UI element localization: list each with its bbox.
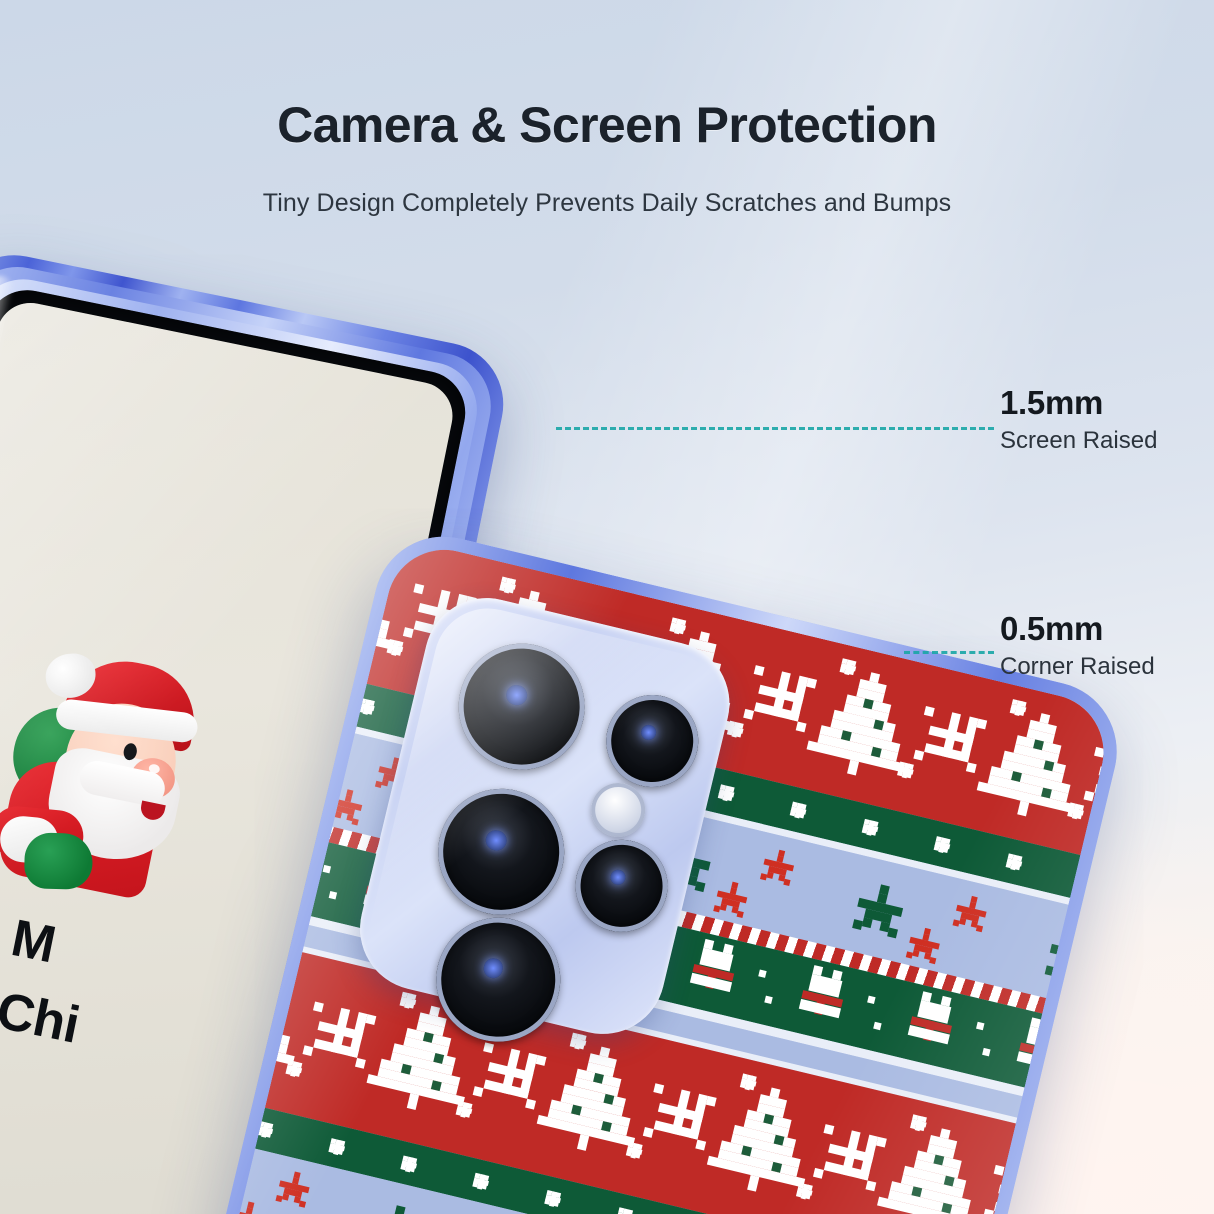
santa-cuff [0, 814, 60, 865]
santa-nose-highlight [148, 763, 161, 774]
leader-line-corner-raised [904, 651, 994, 654]
santa-eye [122, 742, 138, 761]
callout-caption: Screen Raised [1000, 426, 1157, 456]
santa-arm [0, 804, 86, 865]
leader-line-screen-raised [556, 427, 994, 430]
santa-moustache [77, 758, 168, 808]
santa-beard [39, 743, 185, 870]
greeting-line-1: M [5, 902, 274, 1026]
page-subtitle: Tiny Design Completely Prevents Daily Sc… [0, 189, 1214, 218]
santa-sack [5, 699, 118, 812]
callout-corner-raised: 0.5mm Corner Raised [1000, 612, 1155, 682]
santa-hat-pompom [43, 651, 98, 700]
santa-mouth [139, 801, 166, 822]
callout-caption: Corner Raised [1000, 652, 1155, 682]
callout-value: 0.5mm [1000, 612, 1155, 647]
santa-illustration [0, 628, 260, 934]
santa-hat [59, 650, 204, 753]
santa-mitten [24, 832, 93, 890]
led-flash-icon [586, 777, 651, 842]
camera-lens-1 [446, 631, 598, 783]
camera-lens-2 [597, 686, 708, 797]
camera-lens-3 [425, 776, 577, 928]
greeting-line-2: Chi [0, 974, 260, 1098]
callout-value: 1.5mm [1000, 386, 1157, 421]
camera-lens-4 [566, 830, 677, 941]
santa-face [55, 694, 186, 830]
screen-greeting-text: M Chi [0, 902, 274, 1099]
santa-nose [127, 754, 178, 802]
santa-body [0, 753, 166, 900]
santa-hat-brim [55, 698, 199, 744]
callout-screen-raised: 1.5mm Screen Raised [1000, 386, 1157, 456]
page-title: Camera & Screen Protection [0, 96, 1214, 154]
product-marketing-image: M Chi Camera & Screen Protection Tiny De… [0, 0, 1214, 1214]
